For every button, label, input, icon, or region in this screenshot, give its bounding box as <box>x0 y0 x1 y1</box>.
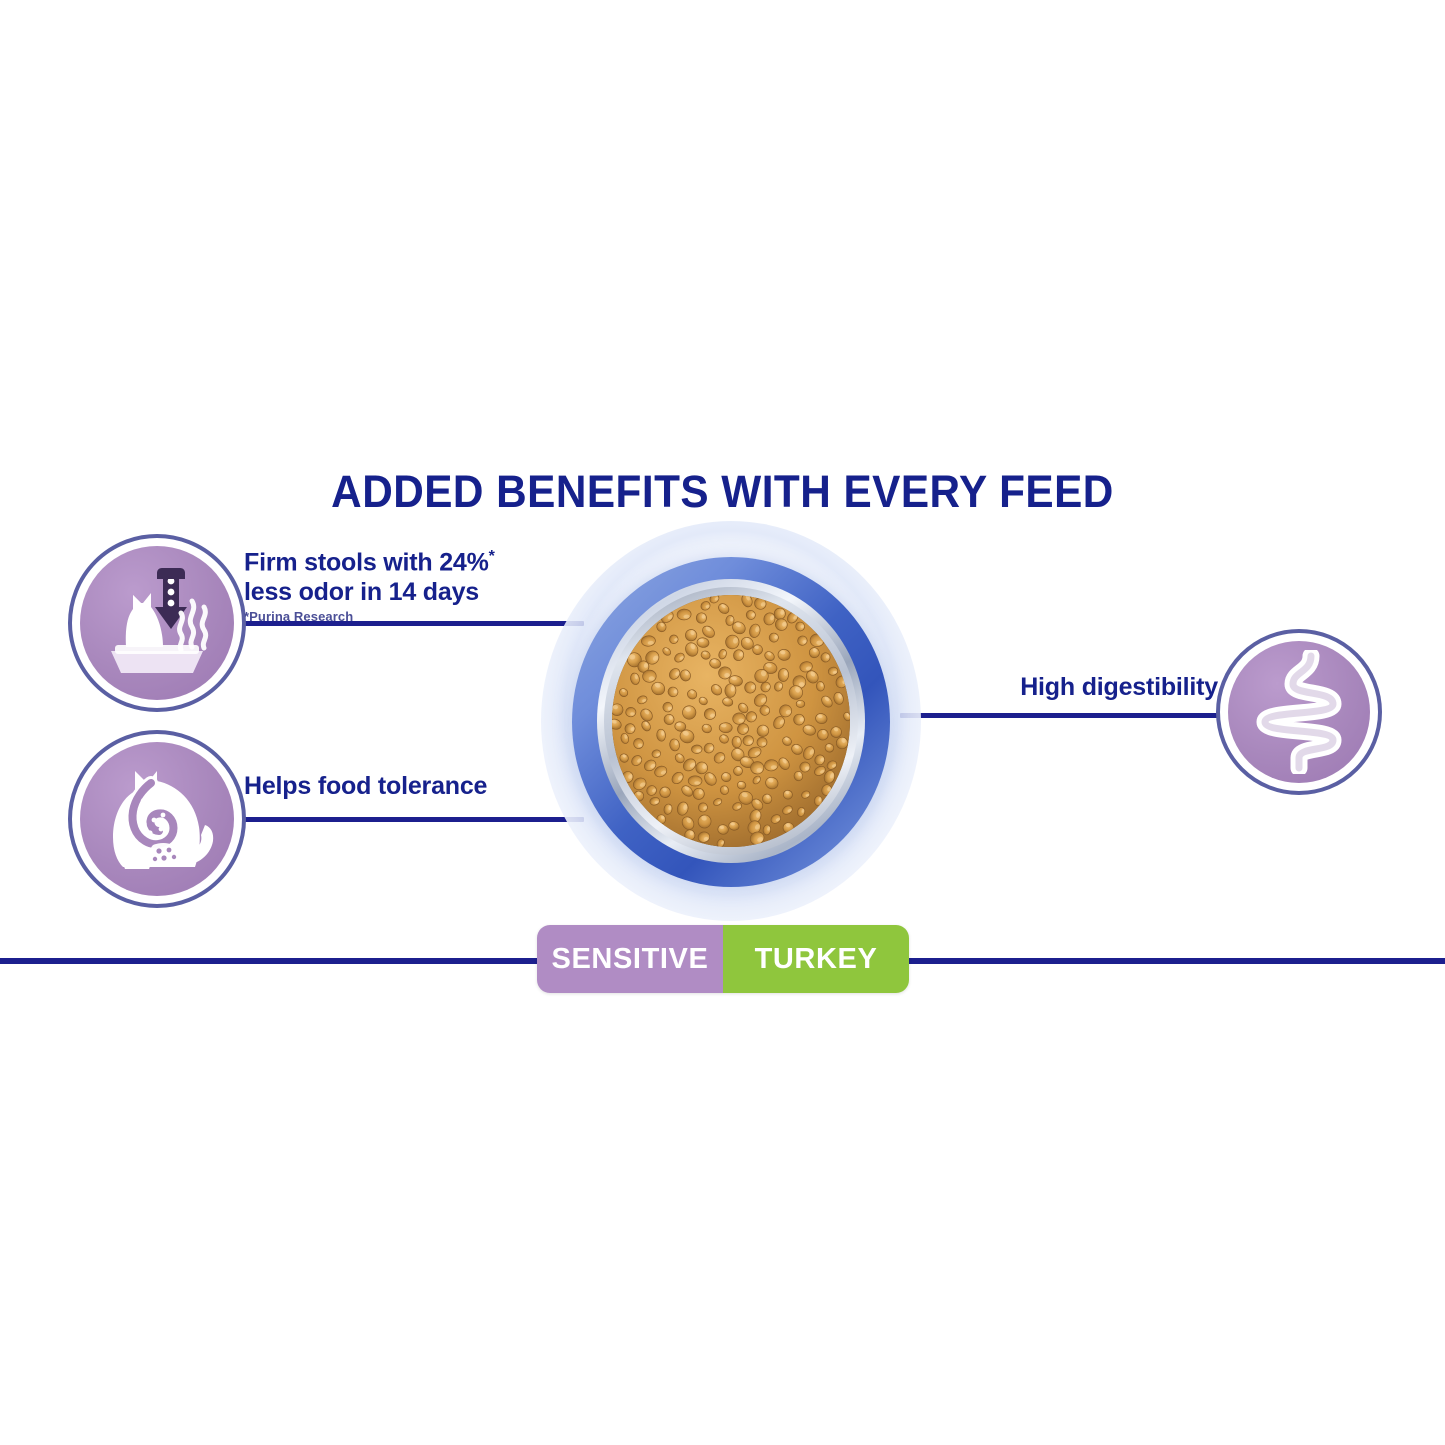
benefit-footnote: *Purina Research <box>244 609 544 624</box>
cat-stomach-icon <box>80 742 234 896</box>
benefit-icon-firm-stools <box>68 534 246 712</box>
divider-line-left <box>0 958 545 964</box>
footnote-marker: * <box>489 548 495 565</box>
cat-litter-box-arrow-icon <box>80 546 234 700</box>
chip-sensitive: SENSITIVE <box>537 925 723 993</box>
bowl-of-kibble <box>541 521 921 921</box>
chip-turkey: TURKEY <box>723 925 909 993</box>
page-title: ADDED BENEFITS WITH EVERY FEED <box>43 466 1401 518</box>
variant-badge: SENSITIVE TURKEY <box>537 925 909 993</box>
benefit-line-1: High digestibility <box>1020 673 1218 701</box>
benefit-label-firm-stools: Firm stools with 24%* less odor in 14 da… <box>244 548 544 625</box>
divider-line-right <box>905 958 1445 964</box>
benefit-line-2: less odor in 14 days <box>244 578 479 606</box>
benefits-infographic: ADDED BENEFITS WITH EVERY FEED <box>0 0 1445 1445</box>
benefit-label-food-tolerance: Helps food tolerance <box>244 772 544 802</box>
benefit-label-high-digestibility: High digestibility <box>918 673 1218 703</box>
connector-line-food-tolerance <box>232 817 584 822</box>
benefit-line-1: Firm stools with 24% <box>244 548 489 576</box>
benefit-icon-high-digestibility <box>1216 629 1382 795</box>
kibble-fill <box>612 595 850 847</box>
connector-line-high-digestibility <box>900 713 1222 718</box>
benefit-icon-food-tolerance <box>68 730 246 908</box>
intestine-icon <box>1228 641 1370 783</box>
benefit-line-1: Helps food tolerance <box>244 772 487 800</box>
